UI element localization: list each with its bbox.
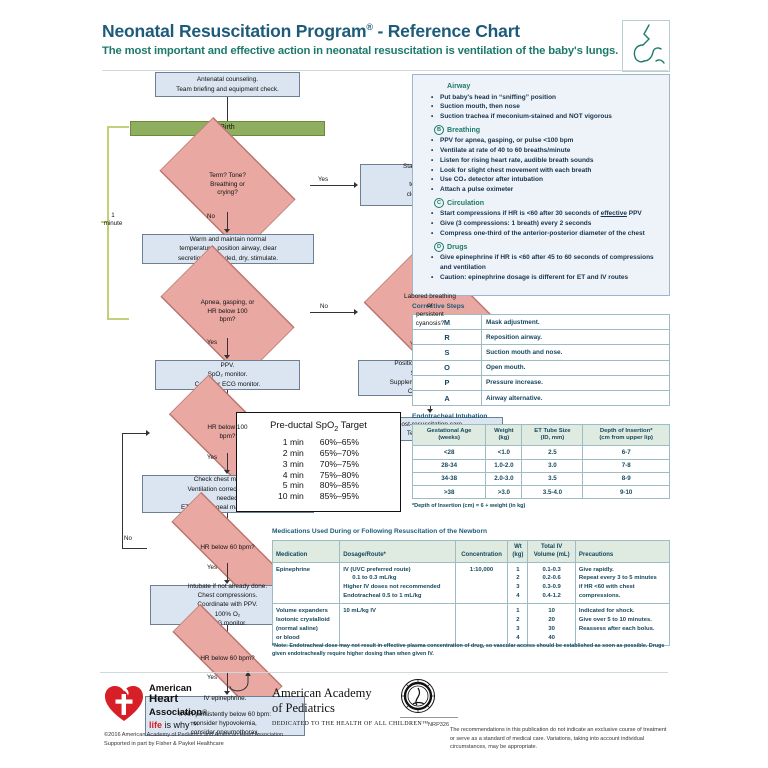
volume-value: 0.1-0.3 <box>531 566 572 575</box>
intubation-cell: 6-7 <box>583 446 670 459</box>
drugs-item: Caution: epinephrine dosage is different… <box>420 273 662 283</box>
intubation-cell: <1.0 <box>486 446 522 459</box>
intubation-header: Depth of Insertion* (cm from upper lip) <box>583 425 670 446</box>
medication-header: Medication <box>273 541 340 563</box>
decision-label: HR below 60 bpm? <box>188 655 266 664</box>
header-divider <box>102 70 668 71</box>
corrective-step-row: OOpen mouth. <box>413 360 670 375</box>
breathing-item: Look for slight chest movement with each… <box>420 166 662 176</box>
nrp-newborn-icon <box>622 20 670 72</box>
medication-header: Total IV Volume (mL) <box>528 541 576 563</box>
connector-no-loop <box>122 433 123 549</box>
decision-label: Labored breathing or persistent cyanosis… <box>392 293 468 329</box>
timing-label: 1 minute <box>98 212 128 229</box>
intubation-cell: >38 <box>413 485 486 498</box>
breathing-item: Ventilate at rate of 40 to 60 breaths/mi… <box>420 146 662 156</box>
drugs-list: Give epinephrine if HR is <60 after 45 t… <box>420 253 662 282</box>
edge-label-yes: Yes <box>318 176 328 183</box>
intubation-header: Gestational Age (weeks) <box>413 425 486 446</box>
volume-value: 0.3-0.9 <box>531 583 572 592</box>
dosage-line: Endotracheal 0.5 to 1 mL/kg <box>343 592 451 601</box>
copyright-line: ©2016 American Academy of Pediatrics and… <box>104 731 283 740</box>
medication-dosage: IV (UVC preferred route)0.1 to 0.3 mL/kg… <box>340 563 455 604</box>
aha-heart-torch-icon <box>104 684 144 722</box>
arrow-right <box>354 182 358 188</box>
weight-value: 1 <box>511 566 524 575</box>
page-subtitle: The most important and effective action … <box>102 45 668 58</box>
medication-precautions: Give rapidly.Repeat every 3 to 5 minutes… <box>575 563 669 604</box>
support-line: Supported in part by Fisher & Paykel Hea… <box>104 740 283 749</box>
edge-label-no: No <box>320 303 328 310</box>
spo2-row: 1 min60%–65% <box>278 437 359 448</box>
medication-weights: 1234 <box>508 604 528 645</box>
spo2-range: 80%–85% <box>320 480 359 491</box>
intubation-cell: 8-9 <box>583 472 670 485</box>
corrective-step-text: Suction mouth and nose. <box>482 345 670 360</box>
weight-value: 4 <box>511 592 524 601</box>
intubation-table: Gestational Age (weeks)Weight (kg)ET Tub… <box>412 424 670 499</box>
aha-reg-mark: ® <box>202 710 207 717</box>
spo2-range: 60%–65% <box>320 437 359 448</box>
spo2-range: 85%–95% <box>320 491 359 502</box>
spo2-range: 65%–70% <box>320 448 359 459</box>
decision-label: Apnea, gasping, or HR below 100 bpm? <box>189 299 267 326</box>
antenatal-counseling-box: Antenatal counseling. Team briefing and … <box>155 72 300 97</box>
corrective-step-row: SSuction mouth and nose. <box>413 345 670 360</box>
arrow-down <box>224 229 230 233</box>
intubation-cell: 2.5 <box>522 446 583 459</box>
corrective-step-key: S <box>413 345 482 360</box>
intubation-cell: 2.0-3.0 <box>486 472 522 485</box>
medication-header: Precautions <box>575 541 669 563</box>
decision-apnea-gasping-hr100: Apnea, gasping, or HR below 100 bpm? <box>145 286 310 338</box>
connector <box>227 453 228 471</box>
decision-label: Term? Tone? Breathing or crying? <box>197 172 258 199</box>
warm-maintain-box: Warm and maintain normal temperature, po… <box>142 234 314 264</box>
spo2-row: 3 min70%–75% <box>278 458 359 469</box>
connector-no-loop <box>122 433 148 434</box>
intubation-row: <28<1.02.56-7 <box>413 446 670 459</box>
corrective-step-row: PPressure increase. <box>413 375 670 390</box>
aha-tagline: life is why™ <box>149 720 199 730</box>
precaution-line: Give over 5 to 10 minutes. <box>579 616 666 625</box>
breathing-item: Listen for rising heart rate, audible br… <box>420 156 662 166</box>
medication-header: Dosage/Route* <box>340 541 455 563</box>
medication-concentration: 1:10,000 <box>455 563 508 604</box>
spo2-row: 2 min65%–70% <box>278 448 359 459</box>
drugs-item: Give epinephrine if HR is <60 after 45 t… <box>420 253 662 273</box>
intubation-cell: 1.0-2.0 <box>486 459 522 472</box>
spo2-time: 3 min <box>278 458 320 469</box>
corrective-step-row: RReposition airway. <box>413 330 670 345</box>
weight-value: 3 <box>511 583 524 592</box>
arrow-down <box>224 355 230 359</box>
precaution-line: compressions. <box>579 592 666 601</box>
breathing-item: Use CO₂ detector after intubation <box>420 175 662 185</box>
medication-name: Volume expanders Isotonic crystalloid (n… <box>273 604 340 645</box>
preductal-spo2-target-box: Pre-ductal SpO2 Target 1 min60%–65%2 min… <box>236 412 401 512</box>
precaution-line: Repeat every 3 to 5 minutes <box>579 574 666 583</box>
decision-label: HR below 60 bpm? <box>188 544 266 553</box>
connector <box>227 338 228 356</box>
medications-table: MedicationDosage/Route*ConcentrationWt (… <box>272 540 670 646</box>
volume-value: 30 <box>531 625 572 634</box>
precaution-line: Give rapidly. <box>579 566 666 575</box>
weight-value: 3 <box>511 625 524 634</box>
weight-value: 1 <box>511 607 524 616</box>
connector <box>227 563 228 581</box>
connector-no-loop <box>122 548 147 549</box>
corrective-step-row: AAirway alternative. <box>413 390 670 405</box>
intubation-row: 34-382.0-3.03.58-9 <box>413 472 670 485</box>
medication-dosage: 10 mL/kg IV <box>340 604 455 645</box>
corrective-step-text: Open mouth. <box>482 360 670 375</box>
intubation-cell: 3.5-4.0 <box>522 485 583 498</box>
abcd-panel: AAirway Put baby's head in “sniffing” po… <box>412 74 670 296</box>
edge-label-no: No <box>207 213 215 220</box>
disclaimer-text: The recommendations in this publication … <box>450 726 668 752</box>
spo2-row: 10 min85%–95% <box>278 491 359 502</box>
medication-header: Concentration <box>455 541 508 563</box>
airway-item: Suction trachea if meconium-stained and … <box>420 112 662 122</box>
aha-line-2: Heart <box>149 693 178 705</box>
letter-b-icon: B <box>434 125 444 135</box>
spo2-row: 5 min80%–85% <box>278 480 359 491</box>
spo2-time: 5 min <box>278 480 320 491</box>
circulation-list: Start compressions if HR is <60 after 30… <box>420 209 662 238</box>
spo2-time: 2 min <box>278 448 320 459</box>
medication-name: Epinephrine <box>273 563 340 604</box>
footer-divider <box>100 672 668 673</box>
corrective-step-key: R <box>413 330 482 345</box>
volume-value: 20 <box>531 616 572 625</box>
page-title: Neonatal Resuscitation Program® - Refere… <box>102 22 668 41</box>
precaution-line: Indicated for shock. <box>579 607 666 616</box>
medications-title: Medications Used During or Following Res… <box>272 528 487 535</box>
dosage-line: 0.1 to 0.3 mL/kg <box>343 574 451 583</box>
airway-list: Put baby's head in “sniffing” positionSu… <box>420 93 662 122</box>
circulation-item: Compress one-third of the anterior-poste… <box>420 229 662 239</box>
intubation-cell: 28-34 <box>413 459 486 472</box>
precaution-line: if HR <60 with chest <box>579 583 666 592</box>
corrective-step-text: Mask adjustment. <box>482 315 670 330</box>
edge-label-yes: Yes <box>207 564 217 571</box>
dosage-line: 10 mL/kg IV <box>343 607 451 616</box>
page-header: Neonatal Resuscitation Program® - Refere… <box>102 22 668 58</box>
intubation-row: 28-341.0-2.03.07-8 <box>413 459 670 472</box>
letter-d-icon: D <box>434 242 444 252</box>
title-tail: - Reference Chart <box>373 21 520 41</box>
intubation-cell: >3.0 <box>486 485 522 498</box>
medication-concentration <box>455 604 508 645</box>
edge-label-yes: Yes <box>207 339 217 346</box>
catalog-divider <box>400 717 458 718</box>
edge-label-no: No <box>124 535 132 542</box>
spo2-time: 4 min <box>278 469 320 480</box>
ppv-box: PPV. SpO₂ monitor. Consider ECG monitor. <box>155 360 300 390</box>
corrective-step-key: O <box>413 360 482 375</box>
intubation-title: Endotracheal Intubation <box>412 413 487 420</box>
corrective-step-text: Reposition airway. <box>482 330 670 345</box>
intubation-cell: 34-38 <box>413 472 486 485</box>
aap-tagline: DEDICATED TO THE HEALTH OF ALL CHILDREN™ <box>272 721 452 727</box>
volume-value: 40 <box>531 634 572 643</box>
breathing-item: Attach a pulse oximeter <box>420 185 662 195</box>
precaution-line: Reassess after each bolus. <box>579 625 666 634</box>
breathing-heading: BBreathing <box>434 125 662 135</box>
medication-weights: 1234 <box>508 563 528 604</box>
circulation-heading: CCirculation <box>434 198 662 208</box>
weight-value: 2 <box>511 574 524 583</box>
intubation-cell: 7-8 <box>583 459 670 472</box>
medication-volumes: 0.1-0.30.2-0.60.3-0.90.4-1.2 <box>528 563 576 604</box>
dosage-line: Higher IV doses not recommended <box>343 583 451 592</box>
corrective-step-key: P <box>413 375 482 390</box>
spo2-title-b: Target <box>338 419 367 430</box>
intubation-row: >38>3.03.5-4.09-10 <box>413 485 670 498</box>
connector <box>227 212 228 230</box>
intubation-footnote: *Depth of Insertion (cm) = 6 + weight (i… <box>412 503 525 509</box>
breathing-list: PPV for apnea, gasping, or pulse <100 bp… <box>420 136 662 195</box>
spo2-range: 70%–75% <box>320 458 359 469</box>
circulation-item: Start compressions if HR is <60 after 30… <box>420 209 662 219</box>
decision-term-tone-breathing: Term? Tone? Breathing or crying? <box>145 158 310 212</box>
intubation-header: ET Tube Size (ID, mm) <box>522 425 583 446</box>
arrow-down <box>224 470 230 474</box>
title-main: Neonatal Resuscitation Program <box>102 21 366 41</box>
letter-c-icon: C <box>434 198 444 208</box>
weight-value: 4 <box>511 634 524 643</box>
airway-item: Put baby's head in “sniffing” position <box>420 93 662 103</box>
circulation-item: Give (3 compressions: 1 breath) every 2 … <box>420 219 662 229</box>
spo2-title-a: Pre-ductal SpO <box>270 419 334 430</box>
spo2-row: 4 min75%–80% <box>278 469 359 480</box>
corrective-step-text: Pressure increase. <box>482 375 670 390</box>
connector <box>227 97 228 121</box>
medications-footnote: *Note: Endotracheal dose may not result … <box>272 643 670 659</box>
arrow-right <box>146 430 150 436</box>
decision-label: HR below 100 bpm? <box>195 424 259 442</box>
intubation-cell: 3.0 <box>522 459 583 472</box>
connector <box>310 185 355 186</box>
spo2-time: 1 min <box>278 437 320 448</box>
connector <box>310 312 355 313</box>
volume-value: 10 <box>531 607 572 616</box>
medication-volumes: 10203040 <box>528 604 576 645</box>
aap-seal-icon <box>400 678 436 714</box>
intubation-cell: 3.5 <box>522 472 583 485</box>
volume-value: 0.4-1.2 <box>531 592 572 601</box>
volume-value: 0.2-0.6 <box>531 574 572 583</box>
medication-header: Wt (kg) <box>508 541 528 563</box>
spo2-time: 10 min <box>278 491 320 502</box>
spo2-table: 1 min60%–65%2 min65%–70%3 min70%–75%4 mi… <box>278 437 359 502</box>
weight-value: 2 <box>511 616 524 625</box>
corrective-step-text: Airway alternative. <box>482 390 670 405</box>
aha-logo: American Heart Association® life is why™ <box>104 680 254 732</box>
aha-line-3: Association® <box>149 706 207 717</box>
airway-heading: AAirway <box>434 81 662 91</box>
breathing-item: PPV for apnea, gasping, or pulse <100 bp… <box>420 136 662 146</box>
intubation-header: Weight (kg) <box>486 425 522 446</box>
dosage-line: IV (UVC preferred route) <box>343 566 451 575</box>
intubation-cell: 9-10 <box>583 485 670 498</box>
edge-label-yes: Yes <box>207 454 217 461</box>
catalog-number: NRP326 <box>428 722 449 728</box>
nrp-reference-chart-page: Neonatal Resuscitation Program® - Refere… <box>0 0 768 768</box>
spo2-title: Pre-ductal SpO2 Target <box>237 419 400 433</box>
medication-row: Volume expanders Isotonic crystalloid (n… <box>273 604 670 645</box>
airway-item: Suction mouth, then nose <box>420 102 662 112</box>
aha-line-1: American <box>149 682 192 693</box>
spo2-range: 75%–80% <box>320 469 359 480</box>
timing-bracket-bottom <box>107 318 129 320</box>
drugs-heading: DDrugs <box>434 242 662 252</box>
medication-row: EpinephrineIV (UVC preferred route)0.1 t… <box>273 563 670 604</box>
corrective-step-key: A <box>413 390 482 405</box>
copyright-block: ©2016 American Academy of Pediatrics and… <box>104 731 283 749</box>
timing-bracket-top <box>107 126 129 128</box>
intubation-cell: <28 <box>413 446 486 459</box>
medication-precautions: Indicated for shock.Give over 5 to 10 mi… <box>575 604 669 645</box>
